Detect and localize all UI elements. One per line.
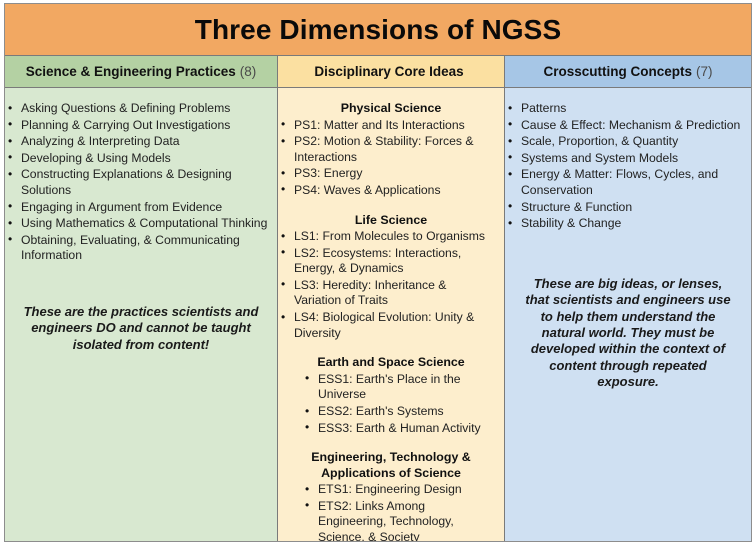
list-item: LS4: Biological Evolution: Unity & Diver… [278,310,496,341]
column-header-crosscutting-concepts: Crosscutting Concepts(7) [505,56,751,88]
list-item: Energy & Matter: Flows, Cycles, and Cons… [505,167,743,198]
list-item: ESS1: Earth's Place in the Universe [302,372,490,403]
engineering-technology-list: ETS1: Engineering Design ETS2: Links Amo… [302,482,504,541]
practices-list: Asking Questions & Defining Problems Pla… [5,101,277,264]
list-item: LS1: From Molecules to Organisms [278,229,496,245]
column-header-count: (7) [696,64,713,79]
list-item: Engaging in Argument from Evidence [5,200,269,216]
group-spacer [278,342,504,355]
list-item: Using Mathematics & Computational Thinki… [5,216,269,232]
group-title-life-science: Life Science [278,213,504,229]
list-item: Systems and System Models [505,151,743,167]
column-header-count: (8) [240,64,257,79]
group-spacer [278,200,504,213]
earth-space-science-list: ESS1: Earth's Place in the Universe ESS2… [302,372,504,436]
list-item: PS2: Motion & Stability: Forces & Intera… [278,134,496,165]
list-item: Asking Questions & Defining Problems [5,101,269,117]
column-header-label: Crosscutting Concepts [543,64,692,79]
list-item: Analyzing & Interpreting Data [5,134,269,150]
column-body-crosscutting-concepts: Patterns Cause & Effect: Mechanism & Pre… [505,88,751,541]
list-item: ESS3: Earth & Human Activity [302,421,490,437]
column-header-science-and-engineering-practices: Science & Engineering Practices(8) [5,56,277,88]
list-item: ESS2: Earth's Systems [302,404,490,420]
list-item: Scale, Proportion, & Quantity [505,134,743,150]
list-item: ETS2: Links Among Engineering, Technolog… [302,499,490,541]
poster-title-bar: Three Dimensions of NGSS [5,4,751,56]
crosscutting-concepts-list: Patterns Cause & Effect: Mechanism & Pre… [505,101,751,232]
group-spacer [278,437,504,450]
list-item: Stability & Change [505,216,743,232]
crosscutting-note: These are big ideas, or lenses, that sci… [505,276,751,391]
page-title: Three Dimensions of NGSS [195,15,561,44]
column-header-label: Disciplinary Core Ideas [314,64,463,79]
column-body-science-and-engineering-practices: Asking Questions & Defining Problems Pla… [5,88,277,541]
column-crosscutting-concepts: Crosscutting Concepts(7) Patterns Cause … [505,56,751,541]
list-item: PS1: Matter and Its Interactions [278,118,496,134]
list-item: PS4: Waves & Applications [278,183,496,199]
list-item: LS3: Heredity: Inheritance & Variation o… [278,278,496,309]
list-item: Cause & Effect: Mechanism & Prediction [505,118,743,134]
list-item: Obtaining, Evaluating, & Communicating I… [5,233,269,264]
list-item: ETS1: Engineering Design [302,482,490,498]
list-item: LS2: Ecosystems: Interactions, Energy, &… [278,246,496,277]
ngss-poster: Three Dimensions of NGSS Science & Engin… [4,3,752,542]
list-item: Constructing Explanations & Designing So… [5,167,269,198]
group-title-physical-science: Physical Science [278,101,504,117]
column-disciplinary-core-ideas: Disciplinary Core Ideas Physical Science… [277,56,505,541]
dimension-columns: Science & Engineering Practices(8) Askin… [5,56,751,541]
column-header-label: Science & Engineering Practices [26,64,236,79]
list-item: Structure & Function [505,200,743,216]
group-title-engineering-technology: Engineering, Technology & Applications o… [278,450,504,481]
practices-note: These are the practices scientists and e… [5,304,277,353]
column-header-disciplinary-core-ideas: Disciplinary Core Ideas [278,56,504,88]
column-science-and-engineering-practices: Science & Engineering Practices(8) Askin… [5,56,277,541]
list-item: Developing & Using Models [5,151,269,167]
list-item: Planning & Carrying Out Investigations [5,118,269,134]
list-item: Patterns [505,101,743,117]
life-science-list: LS1: From Molecules to Organisms LS2: Ec… [278,229,504,341]
group-title-earth-and-space-science: Earth and Space Science [278,355,504,371]
column-body-disciplinary-core-ideas: Physical Science PS1: Matter and Its Int… [278,88,504,541]
list-item: PS3: Energy [278,166,496,182]
physical-science-list: PS1: Matter and Its Interactions PS2: Mo… [278,118,504,199]
